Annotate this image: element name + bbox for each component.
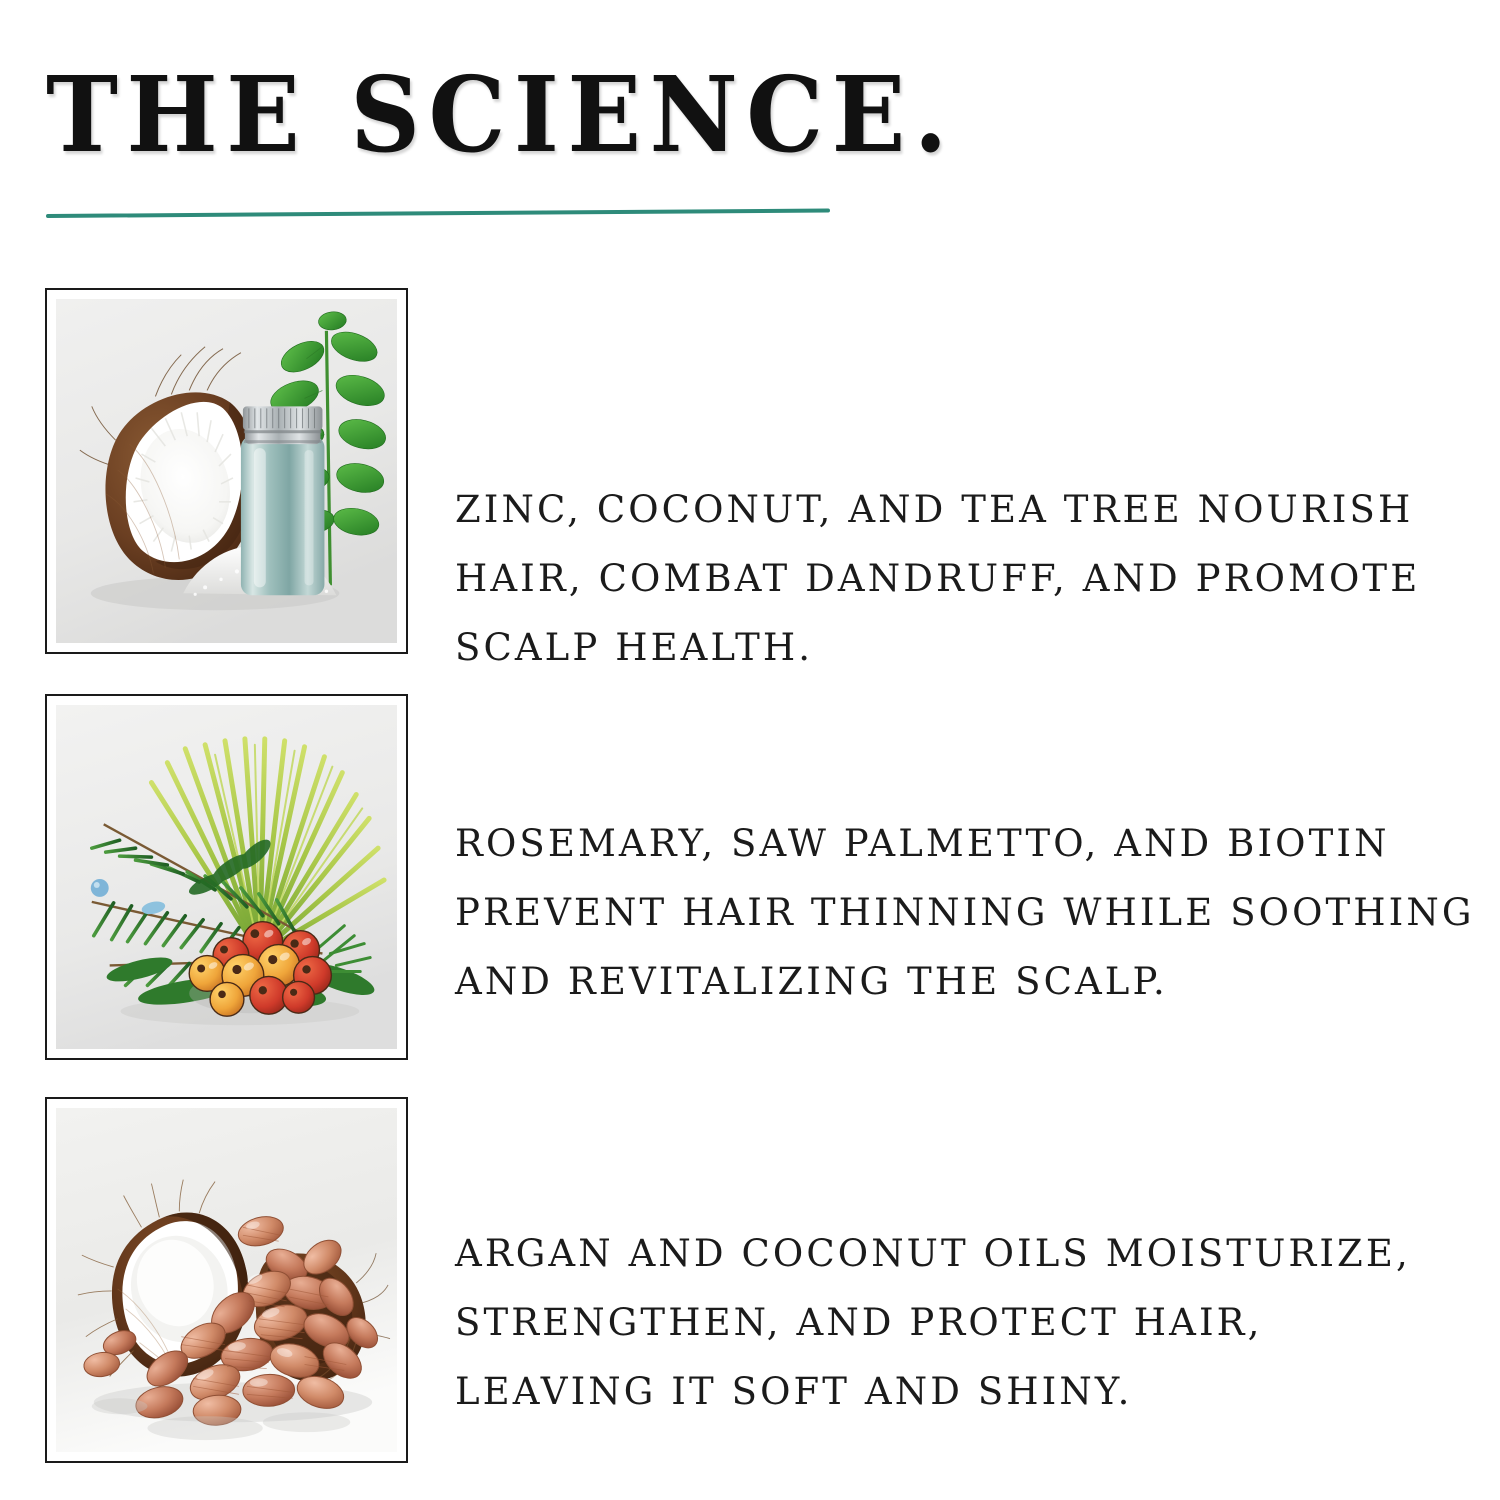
section-text-1: ZINC, COCONUT, AND TEA TREE NOURISH HAIR… [455,475,1475,682]
page-title: THE SCIENCE. [46,60,956,169]
section-row-zinc-coconut-tea-tree: ZINC, COCONUT, AND TEA TREE NOURISH HAIR… [0,288,1500,656]
photo-frame-2 [45,694,408,1060]
section-row-argan-coconut-oils: ARGAN AND COCONUT OILS MOISTURIZE, STREN… [0,1097,1500,1465]
title-divider [46,208,826,213]
section-text-3: ARGAN AND COCONUT OILS MOISTURIZE, STREN… [455,1219,1475,1426]
metal-bottle [241,406,325,595]
page-root: THE SCIENCE. [0,0,1500,1500]
header: THE SCIENCE. [0,0,1500,250]
photo-frame-1 [45,288,408,654]
section-row-rosemary-saw-palmetto-biotin: ROSEMARY, SAW PALMETTO, AND BIOTIN PREVE… [0,694,1500,1062]
photo-frame-3 [45,1097,408,1463]
coconut-argan-nuts-photo [56,1108,397,1452]
section-text-2: ROSEMARY, SAW PALMETTO, AND BIOTIN PREVE… [455,809,1475,1016]
coconut-bottle-tea-tree-photo [56,299,397,643]
rosemary-saw-palmetto-berries-photo [56,705,397,1049]
